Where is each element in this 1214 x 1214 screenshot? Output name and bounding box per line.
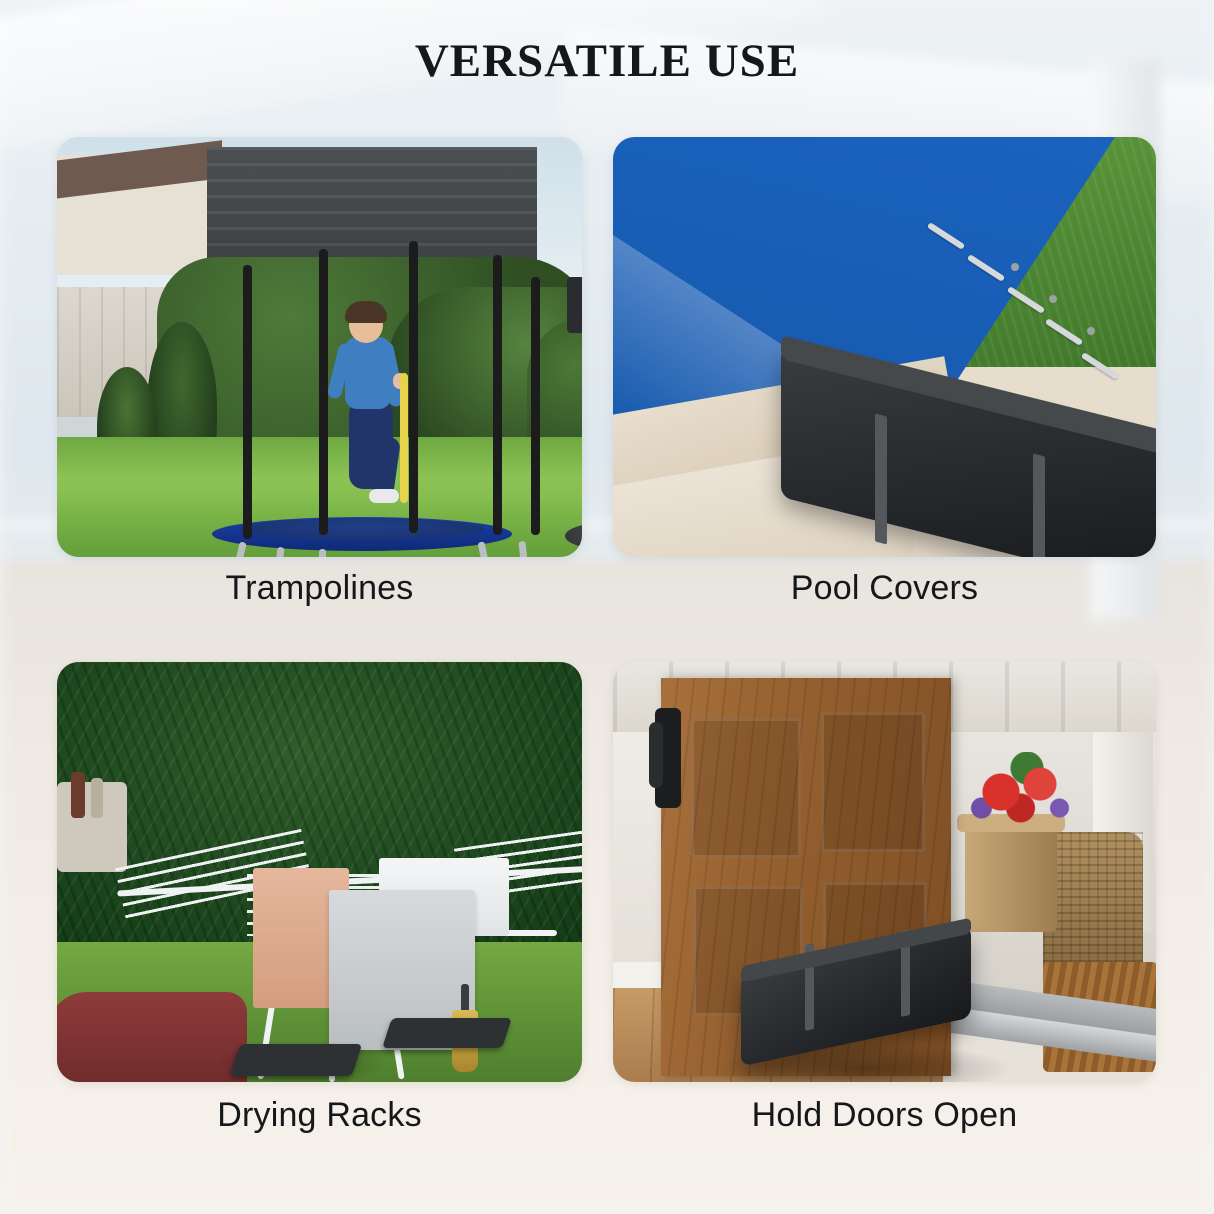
photo-trampolines	[57, 137, 582, 557]
use-case-card-trampolines[interactable]: Trampolines	[57, 137, 582, 557]
trampoline-mat	[240, 518, 484, 540]
card-caption-pool-covers: Pool Covers	[613, 569, 1156, 608]
photo-hold-doors-open	[613, 662, 1156, 1082]
boy-shoe	[369, 489, 399, 503]
card-caption-hold-doors-open: Hold Doors Open	[613, 1096, 1156, 1135]
jar	[91, 778, 103, 818]
basketball-backboard	[567, 277, 582, 333]
safety-net-pole	[319, 249, 328, 535]
weight-pad-left[interactable]	[230, 1044, 362, 1076]
safety-net-pole	[409, 241, 418, 533]
use-case-card-hold-doors-open[interactable]: Hold Doors Open	[613, 662, 1156, 1082]
door-handle-grip[interactable]	[649, 722, 663, 788]
stone-planter	[965, 822, 1057, 932]
door-panel-upper-right	[821, 712, 925, 852]
photo-pool-covers	[613, 137, 1156, 557]
trampoline-leg	[319, 549, 326, 557]
deck-anchor	[1049, 295, 1057, 303]
weight-bag-strap	[875, 414, 887, 545]
safety-net-pole	[493, 255, 502, 535]
use-case-card-drying-racks[interactable]: Drying Racks	[57, 662, 582, 1082]
door-panel-upper-left	[691, 718, 801, 858]
red-flowers	[949, 752, 1079, 832]
weight-bag-strap	[1033, 454, 1045, 557]
card-caption-trampolines: Trampolines	[57, 569, 582, 608]
weight-pad-right[interactable]	[382, 1018, 512, 1048]
use-case-card-pool-covers[interactable]: Pool Covers	[613, 137, 1156, 557]
boy-hair	[345, 301, 387, 323]
page-title: VERSATILE USE	[0, 34, 1214, 88]
net-zipper-handle	[400, 373, 408, 503]
safety-net-pole	[531, 277, 540, 535]
deck-anchor	[1011, 263, 1019, 271]
card-caption-drying-racks: Drying Racks	[57, 1096, 582, 1135]
wicker-texture	[1043, 832, 1143, 972]
bottle	[71, 772, 85, 818]
safety-net-pole	[243, 265, 252, 539]
photo-drying-racks	[57, 662, 582, 1082]
deck-anchor	[1087, 327, 1095, 335]
use-case-grid: Trampolines P	[0, 0, 1214, 1214]
